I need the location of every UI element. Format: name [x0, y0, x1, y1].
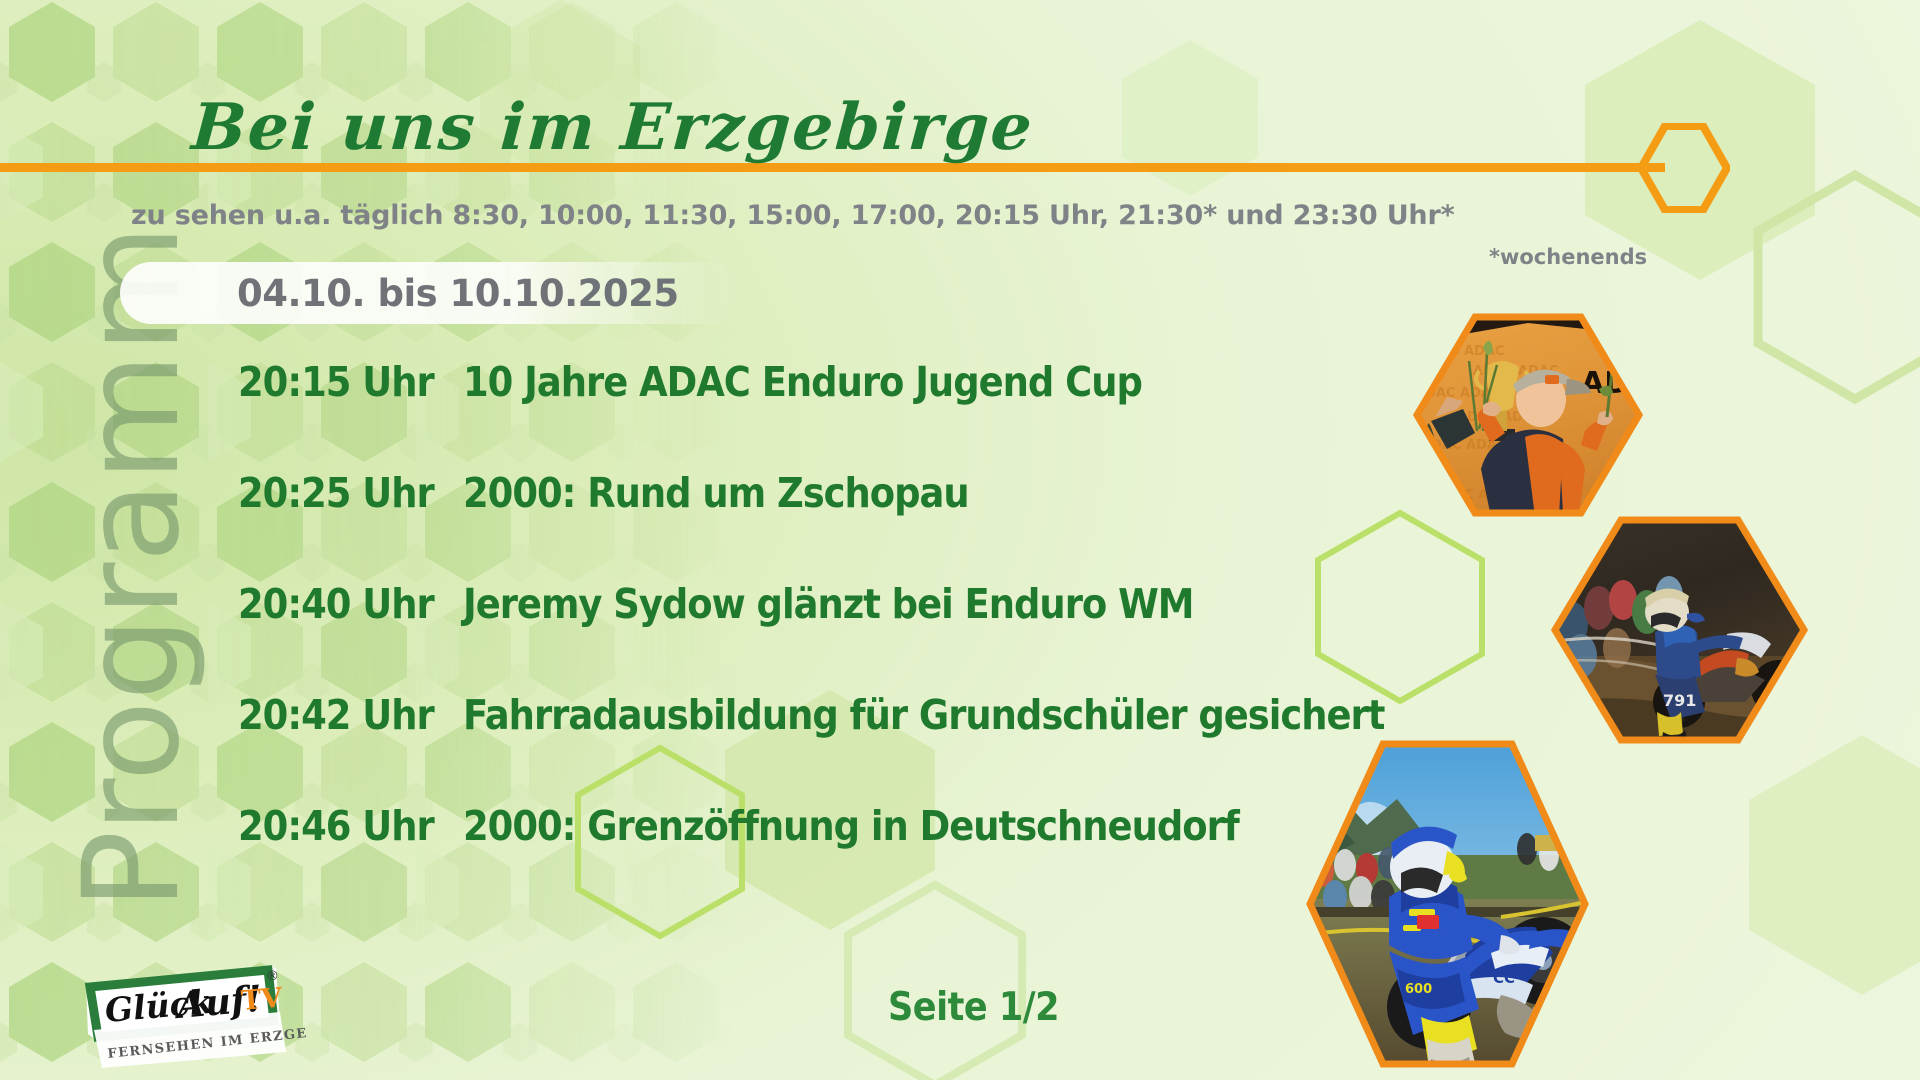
channel-logo: Glück Auf! TV ® FERNSEHEN IM ERZGEBIRGE [80, 960, 306, 1072]
program-title: Jeremy Sydow glänzt bei Enduro WM [463, 580, 1194, 628]
svg-text:CC: CC [1493, 969, 1515, 987]
svg-text:791: 791 [1663, 691, 1696, 710]
program-title: Fahrradausbildung für Grundschüler gesic… [463, 691, 1384, 739]
list-item[interactable]: 20:46 Uhr 2000: Grenzöffnung in Deutschn… [238, 802, 1438, 913]
hexagon-decor-icon [848, 885, 1022, 1080]
list-item[interactable]: 20:15 Uhr 10 Jahre ADAC Enduro Jugend Cu… [238, 358, 1438, 469]
program-title: 2000: Rund um Zschopau [463, 469, 969, 517]
program-title: 2000: Grenzöffnung in Deutschneudorf [463, 802, 1239, 850]
hexagon-decor-icon [1749, 735, 1920, 995]
program-time: 20:40 Uhr [238, 580, 463, 628]
photo-enduro-wheelie-blue: CC 600 [1305, 739, 1590, 1069]
program-time: 20:25 Uhr [238, 469, 463, 517]
page-title: Bei uns im Erzgebirge [189, 90, 1036, 165]
svg-text:600: 600 [1405, 982, 1432, 997]
list-item[interactable]: 20:25 Uhr 2000: Rund um Zschopau [238, 469, 1438, 580]
logo-registered-mark: ® [266, 969, 279, 984]
date-range-badge: 04.10. bis 10.10.2025 [120, 262, 740, 324]
program-time: 20:42 Uhr [238, 691, 463, 739]
program-title: 10 Jahre ADAC Enduro Jugend Cup [463, 358, 1142, 406]
orange-hexagon-icon [1638, 123, 1730, 213]
list-item[interactable]: 20:42 Uhr Fahrradausbildung für Grundsch… [238, 691, 1438, 802]
date-range-text: 04.10. bis 10.10.2025 [237, 272, 679, 315]
airtimes-footnote: *wochenends [1489, 245, 1647, 269]
program-time: 20:46 Uhr [238, 802, 463, 850]
program-list: 20:15 Uhr 10 Jahre ADAC Enduro Jugend Cu… [238, 358, 1438, 913]
photo-adac-youth-champion: ADAC ADACADAC ADAC ADAC ADAC ADADAC ADAC… [1413, 313, 1643, 517]
page-indicator: Seite 1/2 [888, 985, 1059, 1030]
program-time: 20:15 Uhr [238, 358, 463, 406]
list-item[interactable]: 20:40 Uhr Jeremy Sydow glänzt bei Enduro… [238, 580, 1438, 691]
photo-enduro-race-mud: 791 [1551, 516, 1808, 744]
airtimes-text: zu sehen u.a. täglich 8:30, 10:00, 11:30… [131, 200, 1455, 231]
logo-tv-label: TV [240, 982, 285, 1017]
hexagon-decor-icon [1122, 40, 1258, 196]
